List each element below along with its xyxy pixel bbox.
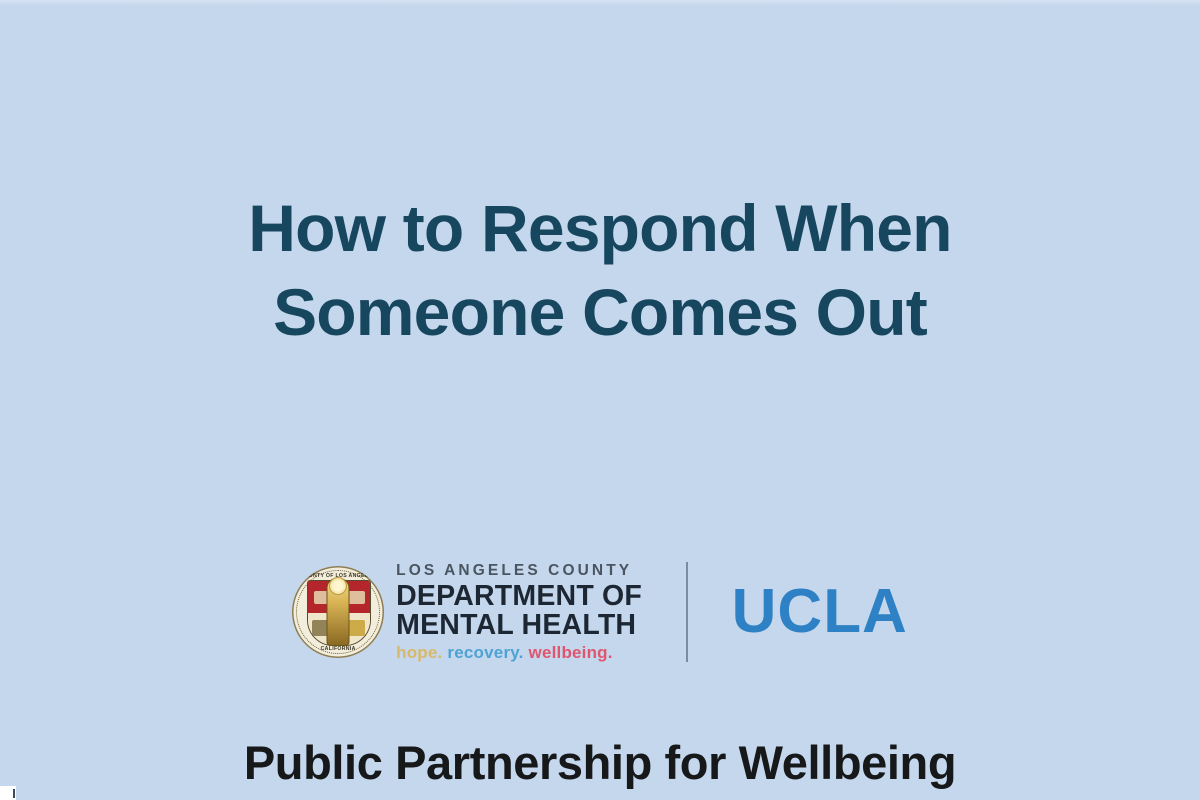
dmh-county-line: LOS ANGELES COUNTY [396,563,642,579]
seal-halo [329,577,347,595]
lacdmh-logo: COUNTY OF LOS ANGELES CALIFORNIA LOS ANG… [292,563,642,661]
tagline-recovery: recovery. [447,643,523,662]
dmh-department-line: DEPARTMENT OF [396,582,642,611]
presentation-slide: How to Respond When Someone Comes Out CO… [0,0,1200,800]
dmh-tagline: hope. recovery. wellbeing. [396,644,642,661]
footer: Public Partnership for Wellbeing [0,735,1200,790]
logo-row: COUNTY OF LOS ANGELES CALIFORNIA LOS ANG… [0,552,1200,672]
capture-corner-artifact [0,786,16,800]
tagline-hope: hope. [396,643,442,662]
footer-text: Public Partnership for Wellbeing [0,735,1200,790]
seal-arc-text-bottom: CALIFORNIA [292,646,384,652]
ucla-logo: UCLA [732,581,908,643]
tagline-wellbeing: wellbeing. [529,643,613,662]
title-line-1: How to Respond When [0,186,1200,270]
page-title: How to Respond When Someone Comes Out [0,186,1200,354]
logo-divider [686,562,688,662]
title-line-2: Someone Comes Out [0,270,1200,354]
dmh-wordmark: LOS ANGELES COUNTY DEPARTMENT OF MENTAL … [396,563,642,661]
dmh-mental-health-line: MENTAL HEALTH [396,611,642,640]
la-county-seal-icon: COUNTY OF LOS ANGELES CALIFORNIA [292,566,384,658]
top-edge-band [0,0,1200,6]
